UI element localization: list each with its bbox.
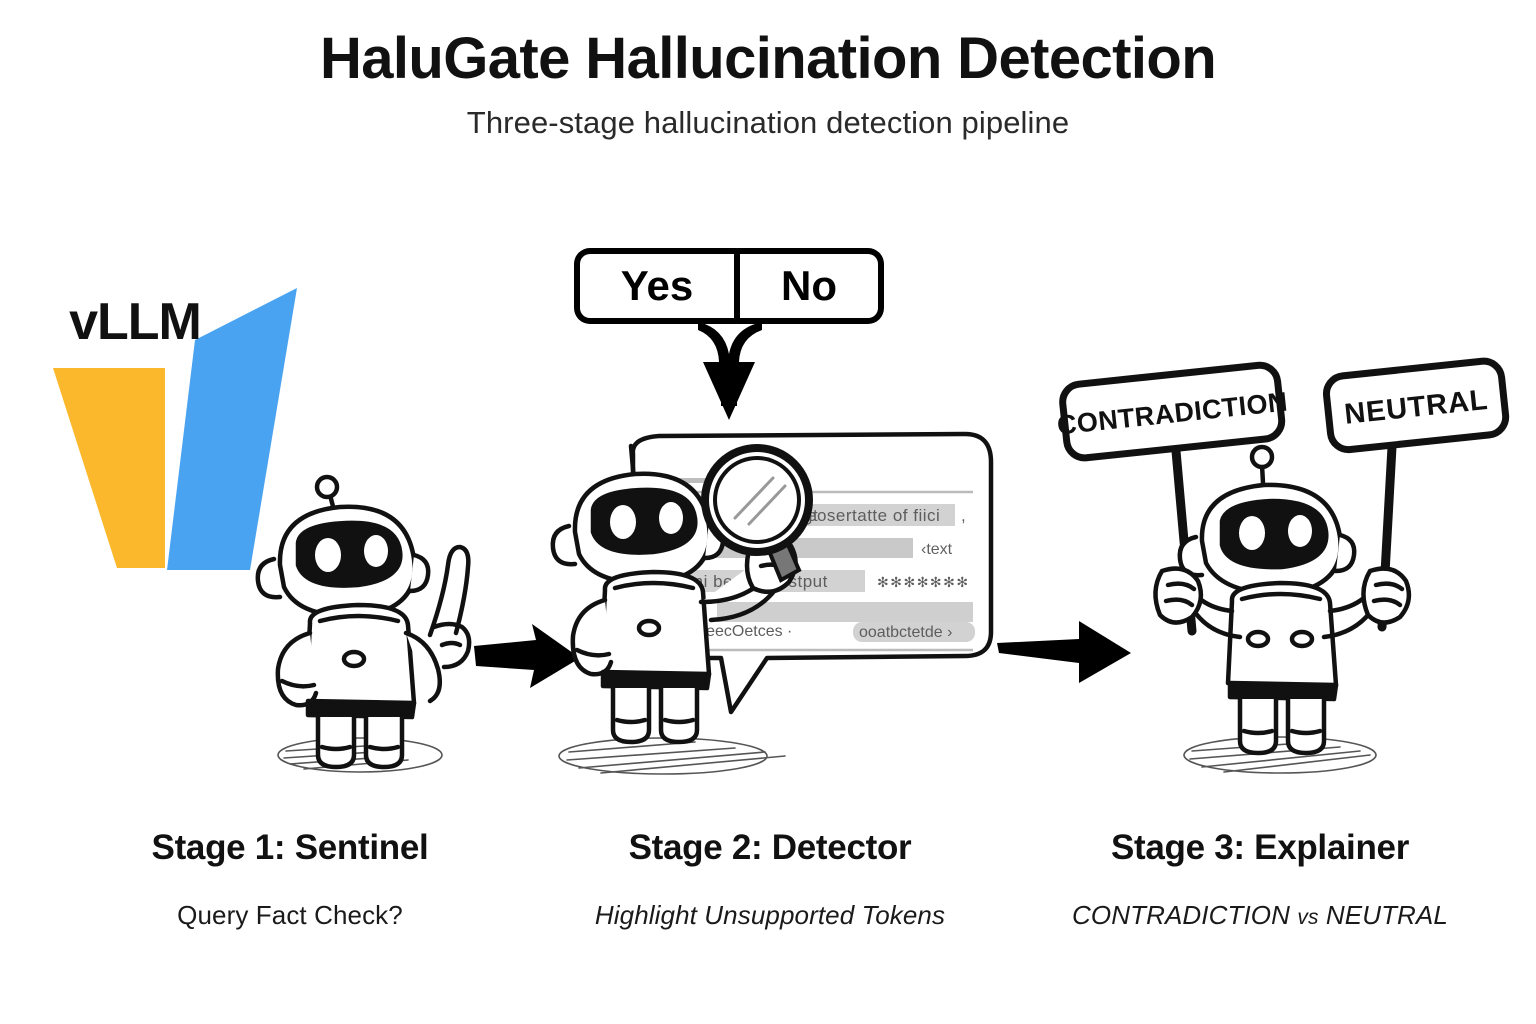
svg-text:ooatbctetde ›: ooatbctetde ›	[859, 624, 952, 641]
stage3-subtitle-left: CONTRADICTION	[1072, 900, 1290, 930]
svg-text:,: ,	[961, 506, 966, 525]
decision-group: Yes No	[566, 248, 896, 448]
svg-text:eosertatte of fiici: eosertatte of fiici	[807, 506, 940, 525]
svg-text:✻✻✻✻✻✻✻: ✻✻✻✻✻✻✻	[877, 574, 970, 590]
eye-left	[610, 505, 636, 539]
vllm-wordmark: vLLM	[0, 292, 270, 352]
chest-button-left	[1248, 632, 1268, 646]
stage1-title: Stage 1: Sentinel	[50, 828, 530, 868]
eye-left	[315, 538, 341, 572]
header: HaluGate Hallucination Detection Three-s…	[0, 28, 1536, 141]
stage3-title: Stage 3: Explainer	[1020, 828, 1500, 868]
decision-option-yes[interactable]: Yes	[574, 248, 740, 324]
sign-contradiction-group[interactable]: CONTRADICTION	[1053, 363, 1291, 461]
stage1-caption: Stage 1: Sentinel Query Fact Check?	[50, 828, 530, 931]
page-subtitle: Three-stage hallucination detection pipe…	[0, 105, 1536, 141]
svg-text:‹text: ‹text	[921, 541, 953, 558]
decision-option-no[interactable]: No	[734, 248, 884, 324]
diagram-canvas: HaluGate Hallucination Detection Three-s…	[0, 0, 1536, 1024]
stage3-subtitle-vs: vs	[1297, 906, 1318, 929]
page-title: HaluGate Hallucination Detection	[0, 28, 1536, 91]
stage3-caption: Stage 3: Explainer CONTRADICTION vs NEUT…	[1020, 828, 1500, 931]
chest-button-right	[1292, 632, 1312, 646]
chest-button	[639, 621, 659, 635]
stage3-subtitle: CONTRADICTION vs NEUTRAL	[1020, 900, 1500, 931]
stage2-robot-figure: beid cti mwd ent gt eosertatte of fiici …	[535, 420, 1005, 790]
eye-left	[1239, 516, 1265, 550]
eye-right	[659, 502, 683, 534]
stage2-caption: Stage 2: Detector Highlight Unsupported …	[530, 828, 1010, 931]
ground-shadow	[1184, 737, 1376, 773]
stage3-robot-figure: CONTRADICTION NEUTRAL	[1040, 355, 1520, 790]
sign-neutral-group[interactable]: NEUTRAL	[1325, 359, 1508, 451]
eye-right	[1288, 515, 1312, 547]
stage3-subtitle-right: NEUTRAL	[1326, 900, 1448, 930]
ground-shadow	[278, 738, 442, 772]
stage2-subtitle: Highlight Unsupported Tokens	[530, 900, 1010, 931]
stage1-subtitle: Query Fact Check?	[50, 900, 530, 931]
stage1-robot-figure	[248, 455, 508, 785]
stage2-title: Stage 2: Detector	[530, 828, 1010, 868]
eye-right	[364, 535, 388, 567]
chest-button	[344, 652, 364, 666]
vllm-logo-yellow-wedge	[53, 368, 165, 568]
